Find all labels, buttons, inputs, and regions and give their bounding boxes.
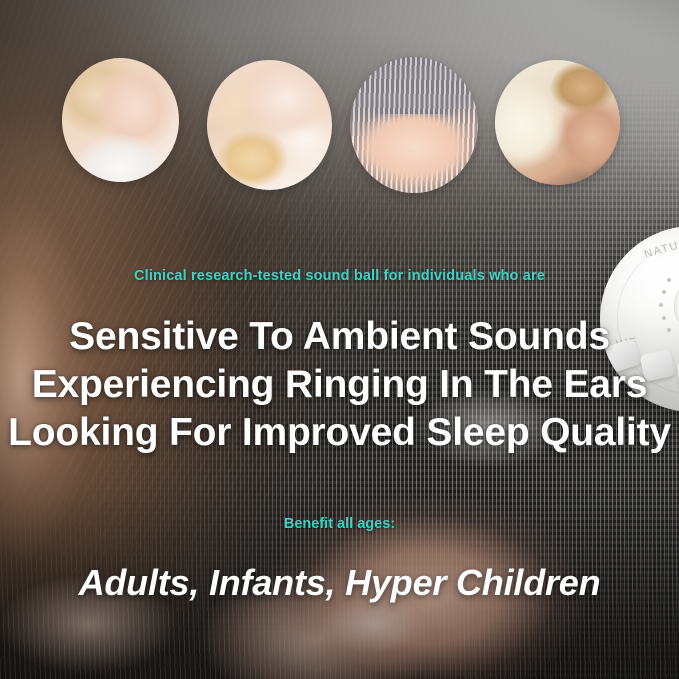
benefit-label: Benefit all ages: [0,516,679,532]
audience-text: Adults, Infants, Hyper Children [0,562,679,604]
headline-line-3: Looking For Improved Sleep Quality [0,409,679,457]
copy-block: Clinical research-tested sound ball for … [0,0,679,679]
eyebrow-text: Clinical research-tested sound ball for … [0,268,679,284]
headline-line-1: Sensitive To Ambient Sounds [0,313,679,361]
headline-line-2: Experiencing Ringing In The Ears [0,361,679,409]
headline-list: Sensitive To Ambient Sounds Experiencing… [0,313,679,457]
product-lifestyle-poster: NATU WE Clinical research-tested sound b… [0,0,679,679]
